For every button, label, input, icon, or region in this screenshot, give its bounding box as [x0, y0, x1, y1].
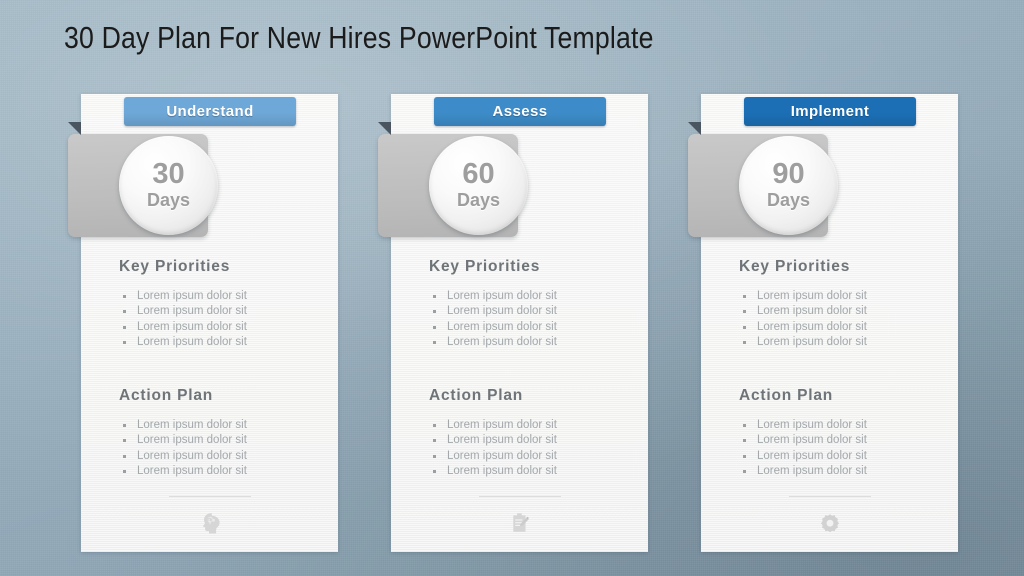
days-badge: 60 Days: [429, 136, 528, 235]
priorities-list: Lorem ipsum dolor sit Lorem ipsum dolor …: [739, 289, 939, 351]
action-plan-section: Action Plan Lorem ipsum dolor sit Lorem …: [739, 387, 939, 480]
head-with-brain-icon: [81, 506, 338, 540]
list-item: Lorem ipsum dolor sit: [119, 289, 319, 304]
list-item: Lorem ipsum dolor sit: [119, 449, 319, 464]
list-item: Lorem ipsum dolor sit: [119, 433, 319, 448]
footer-divider: [789, 496, 871, 497]
action-list: Lorem ipsum dolor sit Lorem ipsum dolor …: [429, 418, 629, 480]
footer-divider: [479, 496, 561, 497]
footer-divider: [169, 496, 251, 497]
action-plan-section: Action Plan Lorem ipsum dolor sit Lorem …: [119, 387, 319, 480]
list-item: Lorem ipsum dolor sit: [739, 449, 939, 464]
list-item: Lorem ipsum dolor sit: [429, 320, 629, 335]
list-item: Lorem ipsum dolor sit: [739, 320, 939, 335]
list-item: Lorem ipsum dolor sit: [119, 418, 319, 433]
section-heading: Key Priorities: [429, 258, 629, 276]
list-item: Lorem ipsum dolor sit: [739, 433, 939, 448]
days-badge: 30 Days: [119, 136, 218, 235]
days-label: Days: [767, 190, 810, 212]
list-item: Lorem ipsum dolor sit: [119, 335, 319, 350]
days-label: Days: [457, 190, 500, 212]
list-item: Lorem ipsum dolor sit: [739, 289, 939, 304]
section-heading: Key Priorities: [119, 258, 319, 276]
list-item: Lorem ipsum dolor sit: [119, 304, 319, 319]
list-item: Lorem ipsum dolor sit: [429, 449, 629, 464]
gear-icon: [701, 506, 958, 540]
list-item: Lorem ipsum dolor sit: [429, 433, 629, 448]
ribbon-fold-corner: [688, 122, 701, 135]
list-item: Lorem ipsum dolor sit: [119, 320, 319, 335]
page-title: 30 Day Plan For New Hires PowerPoint Tem…: [64, 20, 654, 56]
list-item: Lorem ipsum dolor sit: [739, 418, 939, 433]
plan-card-60-day[interactable]: Assess 60 Days Key Priorities Lorem ipsu…: [391, 94, 648, 552]
list-item: Lorem ipsum dolor sit: [429, 335, 629, 350]
key-priorities-section: Key Priorities Lorem ipsum dolor sit Lor…: [739, 258, 939, 351]
ribbon-fold-corner: [68, 122, 81, 135]
card-tab-label: Implement: [791, 103, 870, 120]
days-badge: 90 Days: [739, 136, 838, 235]
card-tab-label: Understand: [166, 103, 253, 120]
clipboard-pencil-icon: [391, 506, 648, 540]
plan-card-90-day[interactable]: Implement 90 Days Key Priorities Lorem i…: [701, 94, 958, 552]
days-number: 90: [772, 160, 804, 189]
priorities-list: Lorem ipsum dolor sit Lorem ipsum dolor …: [119, 289, 319, 351]
card-tab-understand[interactable]: Understand: [124, 97, 296, 126]
list-item: Lorem ipsum dolor sit: [119, 464, 319, 479]
action-list: Lorem ipsum dolor sit Lorem ipsum dolor …: [739, 418, 939, 480]
section-heading: Action Plan: [739, 387, 939, 405]
list-item: Lorem ipsum dolor sit: [739, 304, 939, 319]
plan-card-30-day[interactable]: Understand 30 Days Key Priorities Lorem …: [81, 94, 338, 552]
list-item: Lorem ipsum dolor sit: [739, 335, 939, 350]
key-priorities-section: Key Priorities Lorem ipsum dolor sit Lor…: [119, 258, 319, 351]
key-priorities-section: Key Priorities Lorem ipsum dolor sit Lor…: [429, 258, 629, 351]
slide-canvas: 30 Day Plan For New Hires PowerPoint Tem…: [0, 0, 1024, 576]
card-tab-assess[interactable]: Assess: [434, 97, 606, 126]
priorities-list: Lorem ipsum dolor sit Lorem ipsum dolor …: [429, 289, 629, 351]
days-number: 60: [462, 160, 494, 189]
action-plan-section: Action Plan Lorem ipsum dolor sit Lorem …: [429, 387, 629, 480]
list-item: Lorem ipsum dolor sit: [429, 304, 629, 319]
list-item: Lorem ipsum dolor sit: [429, 289, 629, 304]
card-tab-label: Assess: [493, 103, 548, 120]
section-heading: Action Plan: [429, 387, 629, 405]
action-list: Lorem ipsum dolor sit Lorem ipsum dolor …: [119, 418, 319, 480]
ribbon-fold-corner: [378, 122, 391, 135]
section-heading: Key Priorities: [739, 258, 939, 276]
days-number: 30: [152, 160, 184, 189]
section-heading: Action Plan: [119, 387, 319, 405]
list-item: Lorem ipsum dolor sit: [429, 464, 629, 479]
days-label: Days: [147, 190, 190, 212]
card-tab-implement[interactable]: Implement: [744, 97, 916, 126]
list-item: Lorem ipsum dolor sit: [429, 418, 629, 433]
list-item: Lorem ipsum dolor sit: [739, 464, 939, 479]
